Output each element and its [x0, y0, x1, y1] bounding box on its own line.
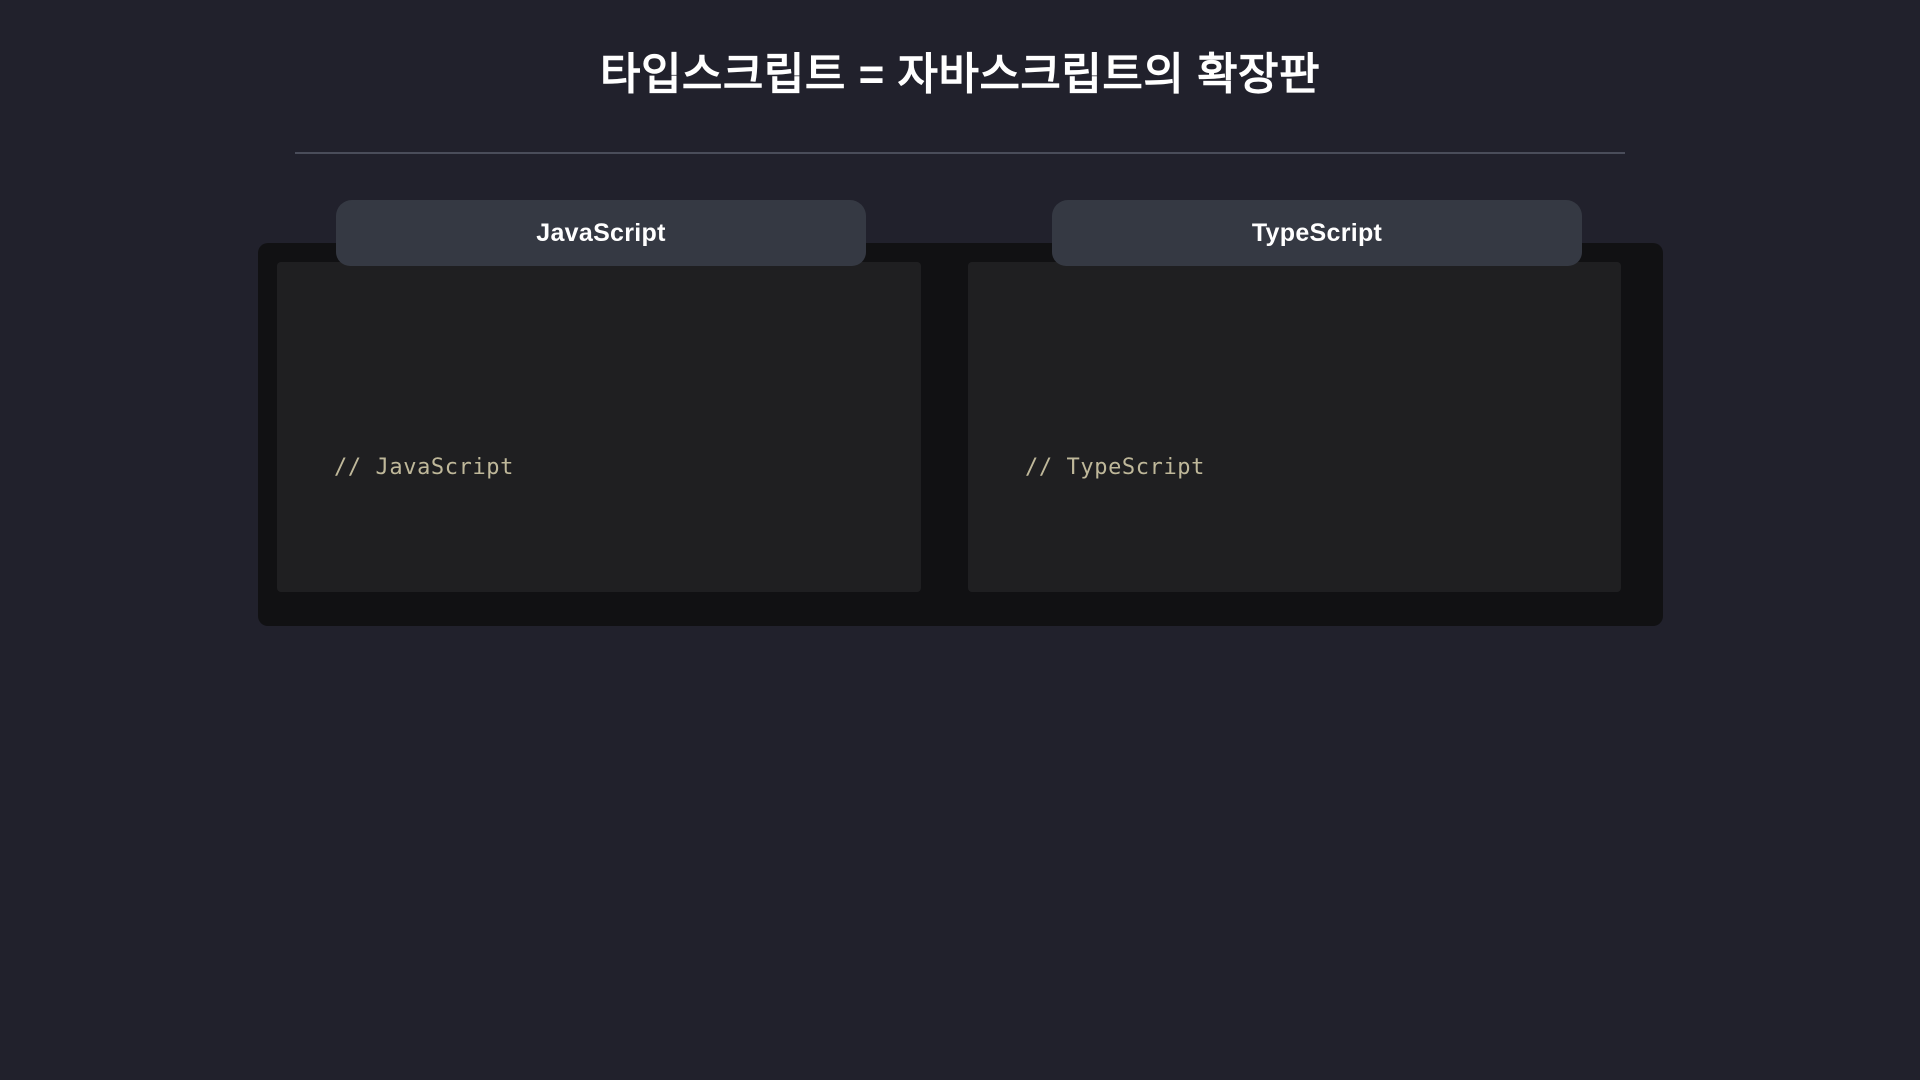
code-line-comment: // TypeScript	[1025, 448, 1288, 488]
code-comparison: JavaScript TypeScript // JavaScript let …	[258, 200, 1663, 626]
ts-comment-token: // TypeScript	[1025, 455, 1205, 480]
tab-typescript-label: TypeScript	[1252, 219, 1382, 248]
js-comment-token: // JavaScript	[334, 455, 514, 480]
tab-javascript-label: JavaScript	[536, 219, 665, 248]
tab-typescript[interactable]: TypeScript	[1052, 200, 1582, 266]
code-block-typescript: // TypeScript let a:number = 1; let b:nu…	[1025, 328, 1288, 592]
page-title: 타입스크립트 = 자바스크립트의 확장판	[0, 38, 1920, 102]
tab-javascript[interactable]: JavaScript	[336, 200, 866, 266]
code-panel-typescript[interactable]: // TypeScript let a:number = 1; let b:nu…	[968, 262, 1621, 592]
code-line-comment: // JavaScript	[334, 448, 583, 488]
title-divider	[295, 152, 1625, 154]
code-block-javascript: // JavaScript let a = 1; let b = 2; cons…	[334, 328, 583, 592]
code-panel-javascript[interactable]: // JavaScript let a = 1; let b = 2; cons…	[277, 262, 921, 592]
